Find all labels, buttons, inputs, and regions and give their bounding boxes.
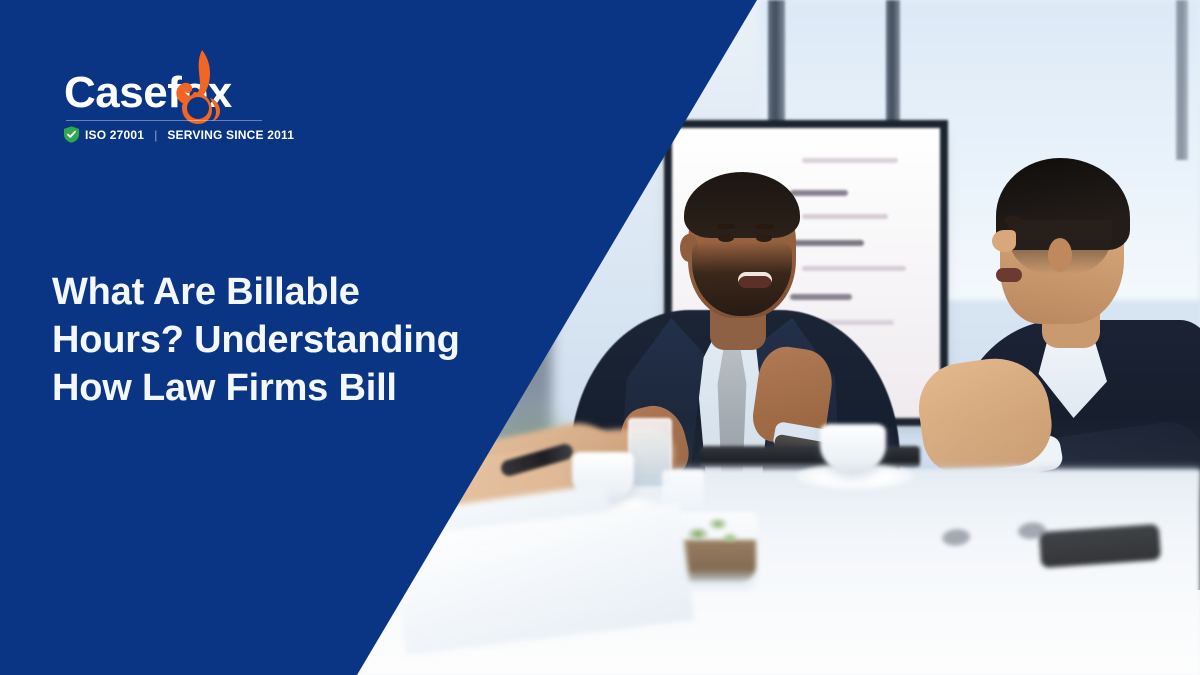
ear (1048, 238, 1072, 272)
eyebrow (756, 224, 774, 229)
logo-wordmark: Casefox (64, 66, 274, 120)
eyebrow (717, 224, 735, 229)
eye (718, 234, 734, 242)
page-title: What Are Billable Hours? Understanding H… (52, 268, 482, 412)
banner: Casefox ISO 27001 | SERVING SINCE 2011 W… (0, 0, 1200, 675)
fox-flame-icon (160, 48, 234, 124)
mouth (738, 272, 772, 288)
hair (684, 172, 800, 238)
iso-certification-text: ISO 27001 (85, 128, 144, 142)
shield-check-icon (64, 126, 79, 143)
casefox-logo[interactable]: Casefox ISO 27001 | SERVING SINCE 2011 (64, 66, 274, 120)
tagline-separator: | (154, 128, 157, 142)
nose (992, 230, 1016, 252)
plant-leaves (684, 508, 740, 550)
logo-divider (66, 120, 262, 121)
eye (1004, 216, 1022, 224)
logo-tagline: ISO 27001 | SERVING SINCE 2011 (64, 126, 294, 143)
laptop (700, 446, 920, 468)
mouth (996, 268, 1022, 282)
eye (756, 234, 772, 242)
serving-since-text: SERVING SINCE 2011 (167, 128, 294, 142)
